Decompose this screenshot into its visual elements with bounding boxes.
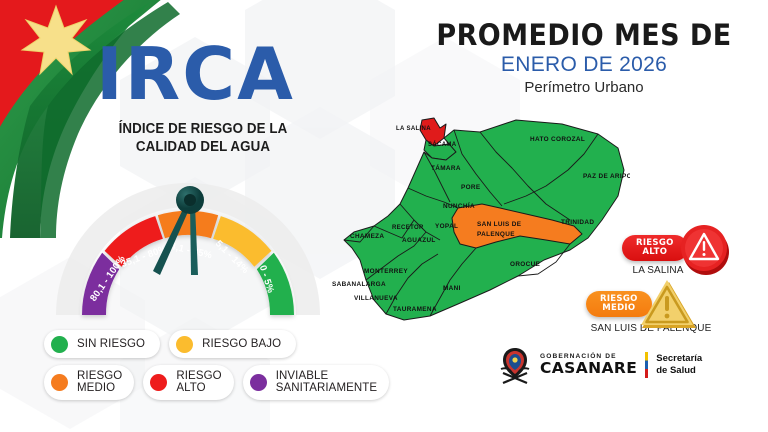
legend-dot-orange [51,374,68,391]
legend-label: RIESGO MEDIO [77,370,122,395]
legend-row-1: SIN RIESGO RIESGO BAJO [44,330,394,358]
legend-dot-red [150,374,167,391]
map-label-yopal: YOPAL [435,223,458,230]
warning-triangle-icon [638,276,700,334]
map-label-t-mara: TÁMARA [431,163,461,172]
map-label-aguazul: AGUAZUL [402,237,436,244]
legend-item-riesgo-alto[interactable]: RIESGO ALTO [143,365,233,400]
map-label-trinidad: TRINIDAD [561,219,594,226]
legend-dot-green [51,336,68,353]
map-label-pore: PORE [461,184,481,191]
map-label-hato-corozal: HATO COROZAL [530,136,585,143]
legend-label: INVIABLE SANITARIAMENTE [276,370,378,395]
page-subtitle: ÍNDICE DE RIESGO DE LA CALIDAD DEL AGUA [97,120,309,156]
page-title: IRCA [96,40,295,108]
legend-dot-purple [250,374,267,391]
gobernacion-text: GOBERNACIÓN DE CASANARE [540,354,637,376]
map-label-s-cama: SÁCAMA [428,141,457,148]
legend-label: RIESGO BAJO [202,338,281,350]
header-line-1: PROMEDIO MES DE [413,18,755,52]
risk-badge-san-luis-de-palenque[interactable]: RIESGO MEDIO SAN LUIS DE PALENQUE [576,288,756,334]
legend-item-riesgo-medio[interactable]: RIESGO MEDIO [44,365,134,400]
map-label-orocue: OROCUE [510,261,541,268]
map-label-palenque: PALENQUE [477,231,515,238]
map-label-la-salina: LA SALINA [396,126,431,132]
map-label-mani: MANI [443,285,461,292]
legend-row-2: RIESGO MEDIO RIESGO ALTO INVIABLE SANITA… [44,365,394,400]
legend-label: SIN RIESGO [77,338,145,350]
legend-item-riesgo-bajo[interactable]: RIESGO BAJO [169,330,296,358]
map-label-san-luis-de: SAN LUIS DE [477,221,522,228]
left-panel: IRCA ÍNDICE DE RIESGO DE LA CALIDAD DEL … [0,0,400,432]
footer-logo: GOBERNACIÓN DE CASANARE Secretaría de Sa… [498,345,702,385]
map-label-nunch-a: NUNCHÍA [443,201,475,210]
casanare-label: CASANARE [540,361,637,377]
risk-legend: SIN RIESGO RIESGO BAJO RIESGO MEDIO RIES… [44,330,394,407]
legend-item-sin-riesgo[interactable]: SIN RIESGO [44,330,160,358]
risk-badge-la-salina[interactable]: RIESGO ALTO LA SALINA [620,232,760,276]
legend-item-inviable-sanitariamente[interactable]: INVIABLE SANITARIAMENTE [243,365,390,400]
secretaria-salud-label: Secretaría de Salud [656,353,702,377]
header-line-3-scope: Perímetro Urbano [400,79,768,96]
warning-triangle-icon [674,218,734,278]
irca-gauge-chart: 80,1 - 100% 35,1 - 80% 14,1 - 35% 5,1 - … [48,175,328,325]
report-header: PROMEDIO MES DE ENERO DE 2026 Perímetro … [400,18,768,96]
casanare-coat-of-arms-icon [498,345,532,385]
divider [645,352,648,378]
gauge-segment-medio [158,211,218,238]
legend-dot-yellow [176,336,193,353]
legend-label: RIESGO ALTO [176,370,221,395]
header-line-2-period: ENERO DE 2026 [400,53,768,77]
map-label-paz-de-ariporo: PAZ DE ARIPORO [583,173,630,180]
